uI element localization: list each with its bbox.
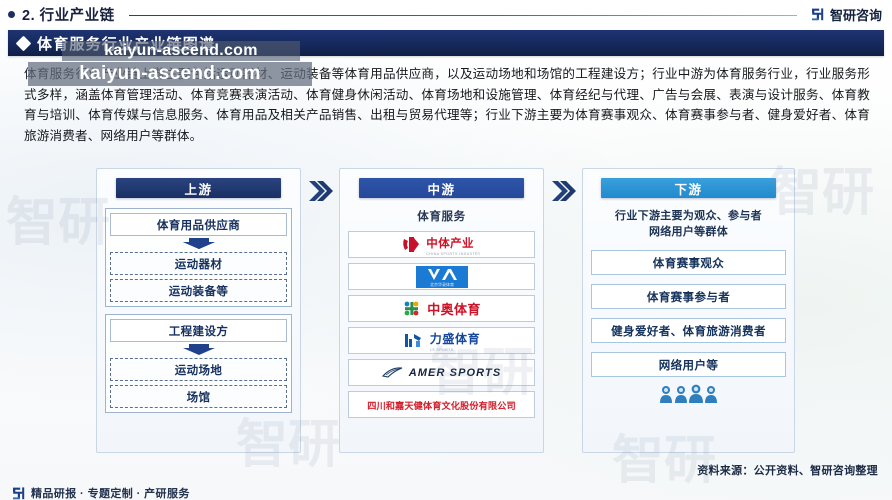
zhongti-logo-icon: 中体产业 CHINA SPORTS INDUSTRY [402,234,480,256]
upstream-parent-node[interactable]: 体育用品供应商 [110,213,287,236]
amer-sports-logo-icon: AMER SPORTS [382,366,502,379]
midstream-column: 中游 体育服务 中体产业 CHINA SPORTS INDUSTRY 北京华 [339,168,544,453]
company-name: AMER SPORTS [409,367,502,379]
upstream-child-node[interactable]: 运动器材 [110,252,287,275]
downstream-item[interactable]: 体育赛事参与者 [591,284,786,309]
downstream-column: 下游 行业下游主要为观众、参与者 网络用户等群体 体育赛事观众 体育赛事参与者 … [582,168,795,453]
upstream-child-node[interactable]: 场馆 [110,385,287,408]
header-divider [129,15,797,16]
company-sub: CHINA SPORTS INDUSTRY [426,252,480,256]
intro-paragraph: 体育服务行业产业链上游主要包括运动器材、运动装备等体育用品供应商，以及运动场地和… [24,64,870,146]
company-logo-item[interactable]: 四川和嘉天健体育文化股份有限公司 [348,391,535,418]
midstream-subtitle: 体育服务 [348,208,535,224]
va-logo-icon: 北京华录体育 [416,266,468,288]
company-name: 四川和嘉天健体育文化股份有限公司 [367,398,516,412]
section-banner: 体育服务行业产业链图谱 [8,30,884,56]
footer-tagline: 精品研报 · 专题定制 · 产研服务 [31,485,190,500]
company-name: 力盛体育 [430,332,480,346]
brand-name: 智研咨询 [830,5,882,24]
downstream-item[interactable]: 健身爱好者、体育旅游消费者 [591,318,786,343]
company-logo-item[interactable]: 中奥体育 [348,295,535,322]
value-chain-diagram: 上游 体育用品供应商 运动器材 运动装备等 工程建设方 运动场地 场馆 [96,168,808,456]
slide-page: 2. 行业产业链 智研咨询 体育服务行业产业链图谱 体育服务行业产业链上游主要包… [0,0,892,500]
down-arrow-icon [110,344,287,355]
midstream-heading: 中游 [359,178,524,198]
company-logo-item[interactable]: AMER SPORTS [348,359,535,386]
source-note: 资料来源：公开资料、智研咨询整理 [697,462,878,478]
page-title: 2. 行业产业链 [22,4,115,25]
chevron-right-arrow-icon [307,178,333,204]
svg-text:北京华录体育: 北京华录体育 [430,281,454,287]
chevron-right-arrow-icon [550,178,576,204]
lisheng-logo-icon: 力盛体育 LS SPORTS [403,330,480,352]
downstream-note: 行业下游主要为观众、参与者 网络用户等群体 [591,208,786,240]
footer-brand: 精品研报 · 专题定制 · 产研服务 [12,485,190,500]
slide-header: 2. 行业产业链 智研咨询 [0,0,892,28]
people-group-icon [591,384,786,404]
upstream-child-node[interactable]: 运动场地 [110,358,287,381]
downstream-item[interactable]: 体育赛事观众 [591,250,786,275]
company-logo-item[interactable]: 北京华录体育 [348,263,535,290]
brand-logo: 智研咨询 [811,5,882,24]
downstream-heading: 下游 [601,178,776,198]
zhiyan-logo-icon [12,486,26,500]
down-arrow-icon [110,238,287,249]
diamond-bullet-icon [16,35,32,51]
upstream-child-node[interactable]: 运动装备等 [110,279,287,302]
banner-title: 体育服务行业产业链图谱 [37,33,215,54]
ghost-watermark: 智研 [6,180,110,255]
zhongao-logo-icon: 中奥体育 [402,299,481,318]
company-sub: LS SPORTS [430,348,480,352]
upstream-parent-node[interactable]: 工程建设方 [110,319,287,342]
upstream-column: 上游 体育用品供应商 运动器材 运动装备等 工程建设方 运动场地 场馆 [96,168,301,453]
company-name: 中体产业 [426,238,474,250]
bullet-dot-icon [8,11,15,18]
upstream-heading: 上游 [116,178,281,198]
company-logo-item[interactable]: 力盛体育 LS SPORTS [348,327,535,354]
downstream-item[interactable]: 网络用户等 [591,352,786,377]
zhiyan-logo-icon [811,7,825,22]
company-name: 中奥体育 [427,299,481,318]
upstream-group: 体育用品供应商 运动器材 运动装备等 [105,208,292,307]
footer-divider [10,481,810,482]
upstream-group: 工程建设方 运动场地 场馆 [105,314,292,413]
company-logo-item[interactable]: 中体产业 CHINA SPORTS INDUSTRY [348,231,535,258]
